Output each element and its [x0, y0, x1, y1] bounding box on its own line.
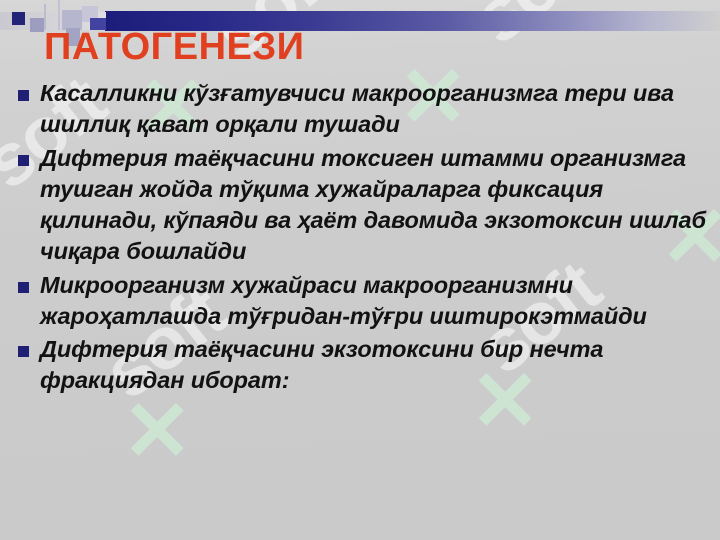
bullet-list: Касалликни кўзғатувчиси макроорганизмга …	[18, 78, 708, 399]
list-item-text: Касалликни кўзғатувчиси макроорганизмга …	[40, 78, 708, 141]
list-item: Дифтерия таёқчасини токсиген штамми орга…	[18, 143, 708, 268]
square-bullet-icon	[18, 90, 29, 101]
list-item: Микроорганизм хужайраси макроорганизмни …	[18, 270, 708, 333]
square-bullet-icon	[18, 282, 29, 293]
list-item-text: Дифтерия таёқчасини экзотоксини бир нечт…	[40, 334, 708, 397]
page-title: ПАТОГЕНЕЗИ	[44, 28, 304, 66]
square-bullet-icon	[18, 346, 29, 357]
square-bullet-icon	[18, 155, 29, 166]
presentation-slide: soft soft soft soft soft ✕ ✕ ✕ ✕ ✕ ПАТОГ…	[0, 0, 720, 540]
list-item: Касалликни кўзғатувчиси макроорганизмга …	[18, 78, 708, 141]
list-item-text: Дифтерия таёқчасини токсиген штамми орга…	[40, 143, 708, 268]
list-item-text: Микроорганизм хужайраси макроорганизмни …	[40, 270, 708, 333]
header-decoration-square	[12, 12, 25, 25]
list-item: Дифтерия таёқчасини экзотоксини бир нечт…	[18, 334, 708, 397]
header-decoration-square	[30, 18, 44, 32]
